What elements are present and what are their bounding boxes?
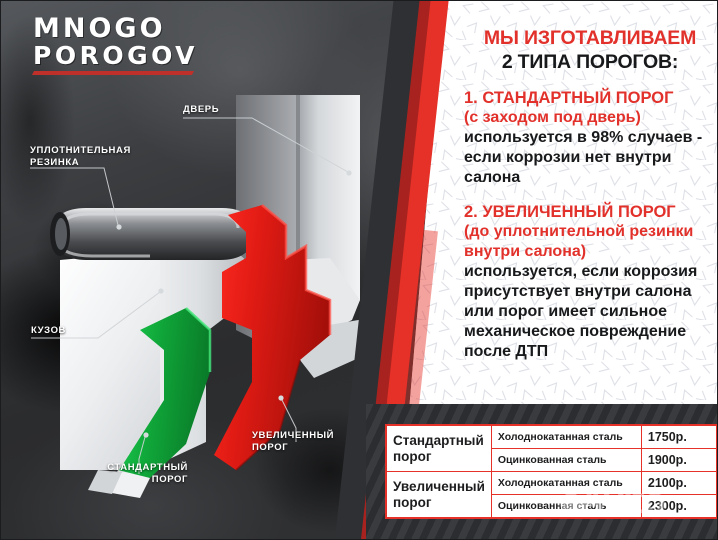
label-standard-sill: СТАНДАРТНЫЙ ПОРОГ <box>88 462 188 486</box>
price-type-standard: Стандартный порог <box>386 425 491 472</box>
price-value: 2100р. <box>641 472 717 495</box>
price-material: Холоднокатанная сталь <box>491 425 641 449</box>
paragraph-standard-body: используется в 98% случаев - если корроз… <box>464 128 716 188</box>
label-extended-sill: УВЕЛИЧЕННЫЙ ПОРОГ <box>252 430 334 454</box>
paragraph-extended-subtitle: (до уплотнительной резинки внутри салона… <box>464 222 716 262</box>
price-type-extended: Увеличенный порог <box>386 472 491 519</box>
price-value: 1900р. <box>641 449 717 472</box>
price-table: Стандартный порог Холоднокатанная сталь … <box>385 424 718 519</box>
logo-underline-bar <box>32 71 194 75</box>
poster-root: ДВЕРЬ УПЛОТНИТЕЛЬНАЯ РЕЗИНКА КУЗОВ СТАНД… <box>0 0 718 540</box>
brand-logo[interactable]: MNOGO POROGOV <box>33 16 213 75</box>
price-material: Оцинкованная сталь <box>491 449 641 472</box>
headline-line-1: МЫ ИЗГОТАВЛИВАЕМ <box>464 26 716 50</box>
price-material: Холоднокатанная сталь <box>491 472 641 495</box>
headline: МЫ ИЗГОТАВЛИВАЕМ 2 ТИПА ПОРОГОВ: <box>464 26 716 74</box>
headline-line-2: 2 ТИПА ПОРОГОВ: <box>464 50 716 74</box>
logo-line-2: POROGOV <box>33 43 213 69</box>
sealing-rubber <box>50 208 254 260</box>
paragraph-standard-title: 1. СТАНДАРТНЫЙ ПОРОГ <box>464 88 716 108</box>
price-value: 1750р. <box>641 425 717 449</box>
table-row: Увеличенный порог Холоднокатанная сталь … <box>386 472 717 495</box>
label-door: ДВЕРЬ <box>183 104 219 116</box>
label-sealing-rubber: УПЛОТНИТЕЛЬНАЯ РЕЗИНКА <box>30 145 131 169</box>
paragraph-extended: 2. УВЕЛИЧЕННЫЙ ПОРОГ (до уплотнительной … <box>464 202 716 362</box>
paragraph-standard: 1. СТАНДАРТНЫЙ ПОРОГ (с заходом под двер… <box>464 88 716 188</box>
paragraph-extended-title: 2. УВЕЛИЧЕННЫЙ ПОРОГ <box>464 202 716 222</box>
label-body: КУЗОВ <box>31 325 66 337</box>
paragraph-extended-body: используется, если коррозия присутствует… <box>464 262 716 362</box>
table-row: Стандартный порог Холоднокатанная сталь … <box>386 425 717 449</box>
logo-line-1: MNOGO <box>33 16 213 42</box>
price-value: 2300р. <box>641 495 717 519</box>
price-material: Оцинкованная сталь <box>491 495 641 519</box>
paragraph-standard-subtitle: (с заходом под дверь) <box>464 108 716 128</box>
info-copy: МЫ ИЗГОТАВЛИВАЕМ 2 ТИПА ПОРОГОВ: 1. СТАН… <box>464 26 716 362</box>
